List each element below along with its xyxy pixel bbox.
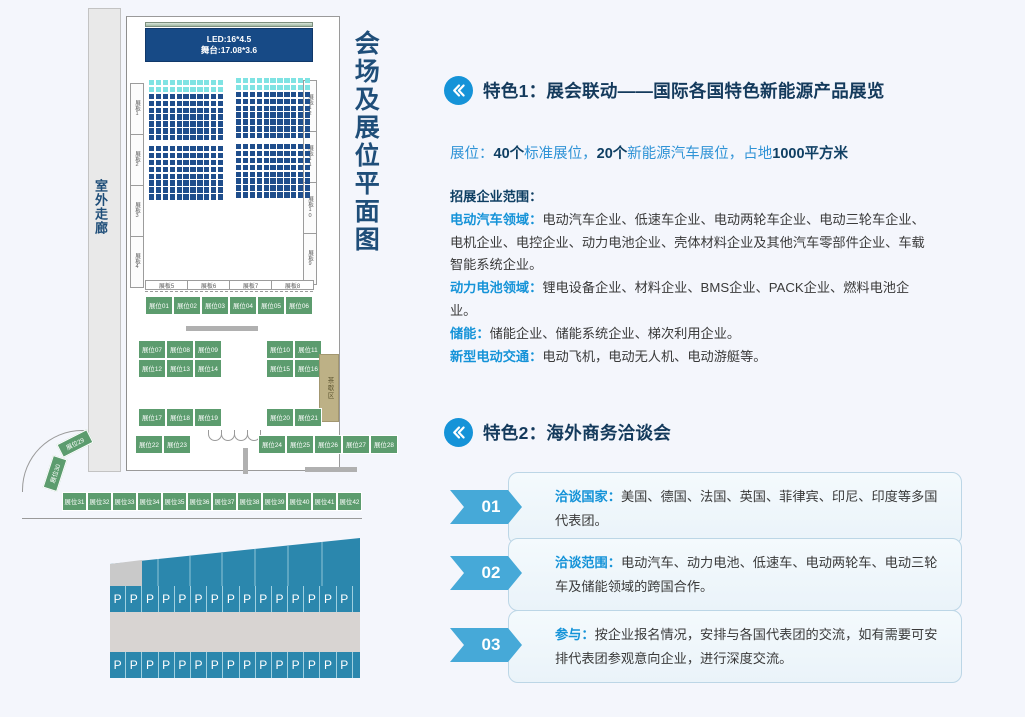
booth-cell: 展位40 xyxy=(287,492,312,511)
flow-arrow-horizontal xyxy=(186,326,258,331)
seat xyxy=(149,108,154,113)
seat xyxy=(277,106,282,111)
category-line-1: 电动汽车领域：电动汽车企业、低速车企业、电动两轮车企业、电动三轮车企业、电机企业… xyxy=(450,209,925,277)
seat xyxy=(243,99,248,104)
vip-seat xyxy=(204,87,209,92)
awning-scallop xyxy=(221,430,235,441)
seat xyxy=(177,121,182,126)
seat xyxy=(270,165,275,170)
vip-seat xyxy=(270,78,275,83)
parking-cell: P xyxy=(110,586,126,612)
category-name: 储能： xyxy=(450,326,490,341)
seat xyxy=(149,135,154,140)
seat xyxy=(243,192,248,197)
seat xyxy=(218,167,223,172)
seat xyxy=(250,172,255,177)
seat xyxy=(211,128,216,133)
seat xyxy=(277,172,282,177)
seat xyxy=(177,174,182,179)
parking-cell: P xyxy=(288,652,304,678)
booth-cell: 展位41 xyxy=(312,492,337,511)
step-number-01: 01 xyxy=(450,490,522,524)
seat xyxy=(211,167,216,172)
seat-row xyxy=(149,121,223,126)
seat xyxy=(277,92,282,97)
vip-seat xyxy=(190,80,195,85)
seat xyxy=(190,128,195,133)
vip-seat xyxy=(277,85,282,90)
seat xyxy=(270,144,275,149)
vip-seat xyxy=(156,80,161,85)
booth-cell: 展位38 xyxy=(237,492,262,511)
seat xyxy=(291,92,296,97)
booth-cell: 展位20 xyxy=(266,408,294,427)
parking-cell: P xyxy=(272,652,288,678)
booth-cell: 展位28 xyxy=(370,435,398,454)
booth-cell: 展位09 xyxy=(194,340,222,359)
vip-seat xyxy=(257,78,262,83)
seat xyxy=(236,178,241,183)
seat xyxy=(270,192,275,197)
seat xyxy=(264,112,269,117)
seat xyxy=(257,112,262,117)
vip-seat xyxy=(149,80,154,85)
seat xyxy=(264,133,269,138)
seat xyxy=(218,194,223,199)
seat xyxy=(250,99,255,104)
seat xyxy=(218,128,223,133)
seat-row xyxy=(236,78,310,83)
booth-cell: 展位34 xyxy=(137,492,162,511)
booth-summary-part: 1000平方米 xyxy=(772,146,848,162)
seat xyxy=(243,144,248,149)
booth-row-top: 展位01展位02展位03展位04展位05展位06 xyxy=(145,296,313,315)
seat xyxy=(250,119,255,124)
booth-cell: 展位07 xyxy=(138,340,166,359)
seat xyxy=(264,185,269,190)
seat xyxy=(204,121,209,126)
booth-row-bottom: 展位31展位32展位33展位34展位35展位36展位37展位38展位39展位40… xyxy=(62,492,362,511)
seat xyxy=(170,121,175,126)
booth-cell: 展位37 xyxy=(212,492,237,511)
seat xyxy=(291,133,296,138)
parking-cell: P xyxy=(175,586,191,612)
seat xyxy=(177,194,182,199)
seat-row xyxy=(236,151,310,156)
feature-1-booth-summary: 展位：40个标准展位，20个新能源汽车展位，占地1000平方米 xyxy=(450,142,848,163)
seat xyxy=(149,114,154,119)
seat xyxy=(270,172,275,177)
seat xyxy=(197,153,202,158)
seat xyxy=(305,92,310,97)
seat xyxy=(163,180,168,185)
seat xyxy=(305,178,310,183)
stage-size-label: 舞台:17.08*3.6 xyxy=(201,45,257,56)
seat xyxy=(183,94,188,99)
parking-cell: P xyxy=(207,586,223,612)
exhibition-board-left-3: 展板3 xyxy=(130,185,144,237)
seat xyxy=(257,192,262,197)
seat xyxy=(270,92,275,97)
seat xyxy=(305,112,310,117)
seat xyxy=(204,187,209,192)
seat xyxy=(291,126,296,131)
step-02-card: 洽谈范围：电动汽车、动力电池、低速车、电动两轮车、电动三轮车及储能领域的跨国合作… xyxy=(508,538,962,611)
seat xyxy=(298,185,303,190)
seat xyxy=(218,146,223,151)
seat xyxy=(284,178,289,183)
seat xyxy=(243,185,248,190)
seat xyxy=(190,135,195,140)
seat xyxy=(243,133,248,138)
category-line-2: 动力电池领域：锂电设备企业、材料企业、BMS企业、PACK企业、燃料电池企业。 xyxy=(450,277,925,323)
feature-1-title: 特色1：展会联动——国际各国特色新能源产品展览 xyxy=(483,78,885,103)
vip-seat xyxy=(270,85,275,90)
seat xyxy=(218,135,223,140)
seat xyxy=(257,158,262,163)
vip-seat xyxy=(218,80,223,85)
seat xyxy=(298,172,303,177)
seat xyxy=(305,185,310,190)
vip-seat xyxy=(236,78,241,83)
vip-seat xyxy=(250,78,255,83)
seat xyxy=(204,94,209,99)
seat xyxy=(284,106,289,111)
seat xyxy=(163,135,168,140)
seat xyxy=(190,153,195,158)
seat xyxy=(264,119,269,124)
booth-cell: 展位24 xyxy=(258,435,286,454)
seat-row xyxy=(149,153,223,158)
seat xyxy=(197,94,202,99)
booth-cell: 展位18 xyxy=(166,408,194,427)
exhibition-board-left-2: 展板2 xyxy=(130,134,144,186)
seat xyxy=(218,94,223,99)
carshow-plan: 车展区平面图 PPPPPPPPPPPPPPP PPPPPPPPPPPPPPP xyxy=(0,530,420,717)
seat xyxy=(236,165,241,170)
vip-seat xyxy=(197,80,202,85)
parking-cell: P xyxy=(337,586,353,612)
seat xyxy=(183,194,188,199)
seat xyxy=(305,126,310,131)
exhibition-boards-middle: 展板5展板6展板7展板8 xyxy=(145,280,313,290)
feature-1-categories: 电动汽车领域：电动汽车企业、低速车企业、电动两轮车企业、电动三轮车企业、电机企业… xyxy=(450,209,925,369)
seat xyxy=(218,160,223,165)
seat xyxy=(190,194,195,199)
booth-cell: 展位16 xyxy=(294,359,322,378)
seat xyxy=(211,174,216,179)
vip-seat xyxy=(183,87,188,92)
venue-floor-plan: 会场及展位平面图 室外走廊 LED:16*4.5 舞台:17.08*3.6 展板… xyxy=(0,0,420,530)
seat xyxy=(211,121,216,126)
seat xyxy=(163,153,168,158)
seat xyxy=(156,108,161,113)
seat xyxy=(163,167,168,172)
seat xyxy=(250,151,255,156)
seat xyxy=(277,119,282,124)
seat xyxy=(156,94,161,99)
seat xyxy=(236,92,241,97)
seat xyxy=(298,92,303,97)
seat xyxy=(236,133,241,138)
seat xyxy=(204,194,209,199)
seat xyxy=(236,185,241,190)
seat xyxy=(149,167,154,172)
seat xyxy=(284,144,289,149)
seat xyxy=(277,185,282,190)
feature-2-title: 特色2：海外商务洽谈会 xyxy=(483,420,671,445)
vip-seat xyxy=(183,80,188,85)
booth-block-right-row2: 展位15展位16 xyxy=(266,359,322,378)
seat xyxy=(197,194,202,199)
seat xyxy=(211,187,216,192)
seat xyxy=(170,114,175,119)
double-chevron-left-icon xyxy=(444,418,473,447)
seat-row xyxy=(236,178,310,183)
seat xyxy=(236,126,241,131)
seat xyxy=(264,106,269,111)
step-03-text: 按企业报名情况，安排与各国代表团的交流，如有需要可安排代表团参观意向企业，进行深… xyxy=(555,627,937,666)
booth-cell: 展位33 xyxy=(112,492,137,511)
booth-cell: 展位12 xyxy=(138,359,166,378)
seat xyxy=(211,114,216,119)
booth-cell: 展位32 xyxy=(87,492,112,511)
seat xyxy=(243,126,248,131)
seat xyxy=(298,106,303,111)
exhibition-board-left-4: 展板4 xyxy=(130,236,144,288)
seat xyxy=(177,180,182,185)
seat xyxy=(250,144,255,149)
seat-row xyxy=(236,112,310,117)
seat xyxy=(250,185,255,190)
parking-cell: P xyxy=(272,586,288,612)
seat xyxy=(218,114,223,119)
seat xyxy=(291,106,296,111)
seat xyxy=(250,92,255,97)
seat xyxy=(149,194,154,199)
seat xyxy=(149,180,154,185)
seat xyxy=(177,108,182,113)
seat xyxy=(177,160,182,165)
seat xyxy=(156,187,161,192)
seat xyxy=(298,112,303,117)
vip-seat xyxy=(291,78,296,83)
seat xyxy=(177,187,182,192)
parking-cell: P xyxy=(126,586,142,612)
seat xyxy=(291,172,296,177)
category-name: 动力电池领域： xyxy=(450,280,542,295)
seat xyxy=(243,158,248,163)
category-line-3: 储能：储能企业、储能系统企业、梯次利用企业。 xyxy=(450,323,925,346)
seat xyxy=(284,126,289,131)
seat xyxy=(298,126,303,131)
seat xyxy=(250,158,255,163)
seat xyxy=(277,192,282,197)
seat xyxy=(170,180,175,185)
vip-seat xyxy=(163,80,168,85)
seat xyxy=(183,128,188,133)
vip-seat xyxy=(277,78,282,83)
seat xyxy=(218,187,223,192)
seat xyxy=(183,160,188,165)
seat xyxy=(305,151,310,156)
seat xyxy=(298,192,303,197)
seat xyxy=(197,146,202,151)
parking-cell: P xyxy=(191,586,207,612)
parking-cell: P xyxy=(223,652,239,678)
vip-seat xyxy=(305,85,310,90)
seat xyxy=(218,108,223,113)
seat xyxy=(277,144,282,149)
seat xyxy=(305,144,310,149)
seat xyxy=(284,185,289,190)
seat-row xyxy=(149,114,223,119)
seat xyxy=(190,180,195,185)
awning-scallop xyxy=(234,430,248,441)
vip-seat xyxy=(250,85,255,90)
seat xyxy=(163,114,168,119)
seat xyxy=(177,167,182,172)
seat xyxy=(250,192,255,197)
seat xyxy=(183,167,188,172)
seat xyxy=(190,167,195,172)
carshow-parking-row-bottom: PPPPPPPPPPPPPPP xyxy=(110,652,360,678)
seat xyxy=(149,101,154,106)
seat xyxy=(257,106,262,111)
vip-seat xyxy=(170,87,175,92)
parking-cell: P xyxy=(320,586,336,612)
parking-cell: P xyxy=(142,652,158,678)
booth-cell: 展位15 xyxy=(266,359,294,378)
seat xyxy=(277,151,282,156)
vip-seat xyxy=(291,85,296,90)
seat xyxy=(163,187,168,192)
booth-cell: 展位01 xyxy=(145,296,173,315)
seat xyxy=(298,158,303,163)
booth-cell: 展位26 xyxy=(314,435,342,454)
seat xyxy=(156,160,161,165)
seat xyxy=(277,133,282,138)
seat xyxy=(204,135,209,140)
seat xyxy=(170,135,175,140)
seat xyxy=(156,153,161,158)
carshow-aisle xyxy=(110,612,360,652)
seat xyxy=(284,151,289,156)
seat xyxy=(149,94,154,99)
tea-break-area: 茶歇区 xyxy=(319,354,339,422)
seat xyxy=(257,151,262,156)
seat xyxy=(197,167,202,172)
seat xyxy=(298,119,303,124)
step-01-label: 洽谈国家： xyxy=(555,489,621,504)
exhibition-boards-left: 展板1展板2展板3展板4 xyxy=(130,83,144,287)
seat xyxy=(298,151,303,156)
seat xyxy=(211,94,216,99)
seat xyxy=(250,106,255,111)
seat-row xyxy=(236,92,310,97)
seat xyxy=(197,135,202,140)
vip-seat xyxy=(236,85,241,90)
seat-row xyxy=(149,167,223,172)
seat xyxy=(236,99,241,104)
seat xyxy=(257,99,262,104)
seat xyxy=(177,114,182,119)
seat xyxy=(305,133,310,138)
seat xyxy=(204,146,209,151)
seat xyxy=(197,174,202,179)
seat xyxy=(190,108,195,113)
seat xyxy=(170,108,175,113)
seat xyxy=(177,146,182,151)
category-line-4: 新型电动交通：电动飞机，电动无人机、电动游艇等。 xyxy=(450,346,925,369)
vip-seat xyxy=(264,78,269,83)
vip-seat xyxy=(177,80,182,85)
seat xyxy=(163,160,168,165)
booth-summary-part: 20个 xyxy=(597,146,628,162)
seat xyxy=(163,94,168,99)
parking-cell: P xyxy=(159,652,175,678)
seat xyxy=(170,101,175,106)
seat xyxy=(170,146,175,151)
seat xyxy=(291,192,296,197)
seat-row xyxy=(236,185,310,190)
seat xyxy=(211,160,216,165)
booth-summary-part: 40个 xyxy=(494,146,525,162)
seat xyxy=(284,133,289,138)
seat xyxy=(291,151,296,156)
seat xyxy=(218,153,223,158)
vip-seat xyxy=(298,85,303,90)
seat xyxy=(156,174,161,179)
booth-row-fourth-left: 展位22展位23 xyxy=(135,435,191,454)
booth-cell: 展位23 xyxy=(163,435,191,454)
seat xyxy=(257,126,262,131)
seat xyxy=(163,174,168,179)
seat xyxy=(183,153,188,158)
seat-row xyxy=(149,194,223,199)
seat xyxy=(204,108,209,113)
booth-block-right-row1: 展位10展位11 xyxy=(266,340,322,359)
step-03-label: 参与： xyxy=(555,627,595,642)
seat xyxy=(264,178,269,183)
parking-cell: P xyxy=(240,652,256,678)
booth-cell: 展位21 xyxy=(294,408,322,427)
seat xyxy=(291,112,296,117)
seat xyxy=(277,126,282,131)
seat xyxy=(204,114,209,119)
seat xyxy=(149,160,154,165)
seat xyxy=(264,144,269,149)
seat xyxy=(211,180,216,185)
vip-seat xyxy=(298,78,303,83)
seat xyxy=(197,114,202,119)
seat xyxy=(270,99,275,104)
awning-scallop xyxy=(208,430,222,441)
seat xyxy=(149,174,154,179)
seat xyxy=(163,108,168,113)
parking-cell: P xyxy=(304,652,320,678)
seat xyxy=(197,180,202,185)
seat xyxy=(197,128,202,133)
seat xyxy=(277,178,282,183)
feature-1-header: 特色1：展会联动——国际各国特色新能源产品展览 xyxy=(444,76,885,105)
parking-cell: P xyxy=(142,586,158,612)
seat-row xyxy=(149,94,223,99)
seat xyxy=(277,165,282,170)
booth-cell: 展位10 xyxy=(266,340,294,359)
booth-cell: 展位19 xyxy=(194,408,222,427)
vip-seat xyxy=(305,78,310,83)
